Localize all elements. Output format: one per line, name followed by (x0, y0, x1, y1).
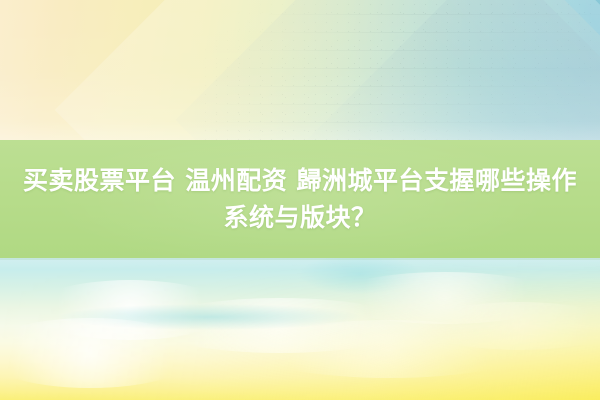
warm-yellow-overlay (0, 258, 600, 400)
sky-background (0, 258, 600, 400)
top-geometric-background (0, 0, 600, 141)
title-band: 买卖股票平台 温州配资 歸洲城平台支握哪些操作 系统与版块？ (0, 140, 600, 258)
top-vertical-fade-overlay (0, 0, 600, 141)
banner-title-text: 买卖股票平台 温州配资 歸洲城平台支握哪些操作 系统与版块？ (23, 162, 577, 236)
promotional-banner-image: 买卖股票平台 温州配资 歸洲城平台支握哪些操作 系统与版块？ (0, 0, 600, 400)
band-seam-line (0, 258, 600, 260)
